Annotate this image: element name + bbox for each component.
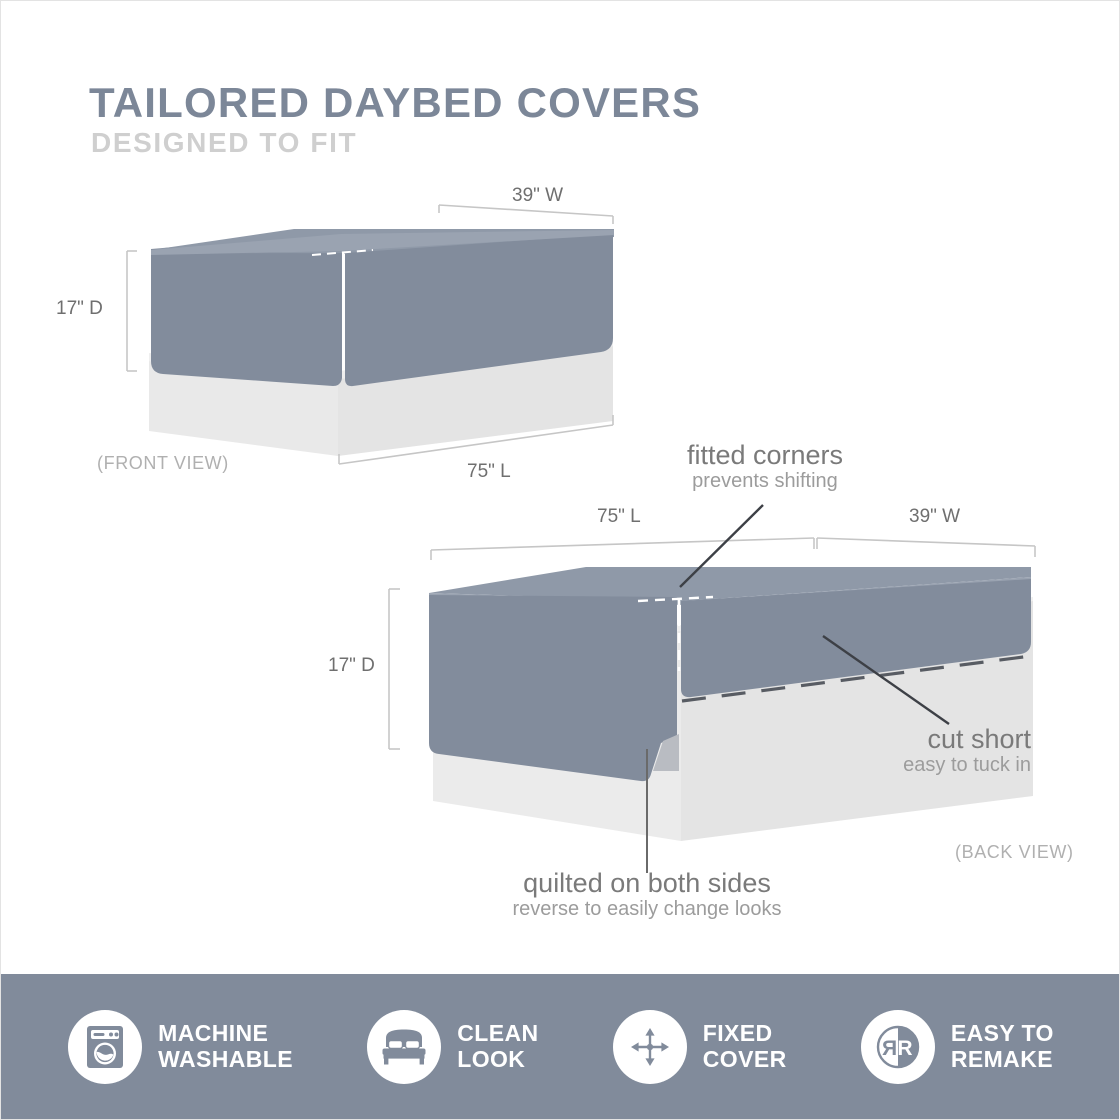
page-subtitle: DESIGNED TO FIT — [91, 127, 357, 159]
back-dimension-depth-label: 17" D — [328, 655, 375, 677]
back-cover-left-face — [429, 595, 677, 781]
feature-easy-to-remake-text: EASY TO REMAKE — [951, 1021, 1054, 1073]
callout-cut-short: cut short easy to tuck in — [769, 725, 1031, 777]
feature-line-1: MACHINE — [158, 1021, 293, 1047]
feature-clean-look: CLEAN LOOK — [367, 1010, 538, 1084]
svg-text:R: R — [897, 1037, 912, 1060]
front-dimension-width-label: 39" W — [512, 185, 563, 207]
svg-text:R: R — [882, 1037, 897, 1060]
four-way-arrows-glyph — [627, 1024, 673, 1070]
callout-cut-short-main: cut short — [769, 725, 1031, 753]
callout-quilted-both-sides: quilted on both sides reverse to easily … — [452, 869, 842, 921]
feature-line-1: EASY TO — [951, 1021, 1054, 1047]
daybed-diagrams-artwork — [1, 1, 1120, 1120]
feature-fixed-cover-text: FIXED COVER — [703, 1021, 787, 1073]
bed-glyph — [379, 1027, 429, 1067]
feature-fixed-cover: FIXED COVER — [613, 1010, 787, 1084]
four-way-arrows-icon — [613, 1010, 687, 1084]
callout-quilted-sub: reverse to easily change looks — [452, 897, 842, 921]
washing-machine-icon — [68, 1010, 142, 1084]
page-title: TAILORED DAYBED COVERS — [89, 79, 701, 127]
back-dimension-depth — [389, 589, 400, 749]
callout-fitted-corners-main: fitted corners — [674, 441, 856, 469]
feature-machine-washable-text: MACHINE WASHABLE — [158, 1021, 293, 1073]
washing-machine-glyph — [84, 1024, 126, 1070]
feature-bar: MACHINE WASHABLE CLEAN LOOK — [1, 974, 1120, 1119]
front-dimension-length-label: 75" L — [467, 461, 511, 483]
front-view-diagram — [127, 205, 614, 464]
feature-line-1: FIXED — [703, 1021, 787, 1047]
back-view-label: (BACK VIEW) — [955, 842, 1074, 863]
feature-line-2: LOOK — [457, 1047, 538, 1073]
back-view-diagram — [389, 505, 1035, 873]
callout-fitted-corners: fitted corners prevents shifting — [674, 441, 856, 493]
front-dimension-depth — [127, 251, 137, 371]
feature-easy-to-remake: R R EASY TO REMAKE — [861, 1010, 1054, 1084]
back-dimension-length — [431, 538, 814, 560]
feature-machine-washable: MACHINE WASHABLE — [68, 1010, 293, 1084]
feature-line-1: CLEAN — [457, 1021, 538, 1047]
feature-clean-look-text: CLEAN LOOK — [457, 1021, 538, 1073]
back-dimension-length-label: 75" L — [597, 506, 641, 528]
callout-quilted-main: quilted on both sides — [452, 869, 842, 897]
callout-fitted-corners-sub: prevents shifting — [674, 469, 856, 493]
feature-line-2: REMAKE — [951, 1047, 1054, 1073]
front-dimension-width — [439, 205, 613, 224]
back-dimension-width — [817, 538, 1035, 557]
back-dimension-width-label: 39" W — [909, 506, 960, 528]
front-cover-left-face — [151, 253, 342, 386]
feature-line-2: WASHABLE — [158, 1047, 293, 1073]
front-view-label: (FRONT VIEW) — [97, 453, 229, 474]
feature-line-2: COVER — [703, 1047, 787, 1073]
front-dimension-depth-label: 17" D — [56, 298, 103, 320]
reversible-r-icon: R R — [861, 1010, 935, 1084]
bed-icon — [367, 1010, 441, 1084]
callout-cut-short-sub: easy to tuck in — [769, 753, 1031, 777]
infographic-page: TAILORED DAYBED COVERS DESIGNED TO FIT 3… — [0, 0, 1120, 1120]
reversible-r-glyph: R R — [873, 1022, 923, 1072]
